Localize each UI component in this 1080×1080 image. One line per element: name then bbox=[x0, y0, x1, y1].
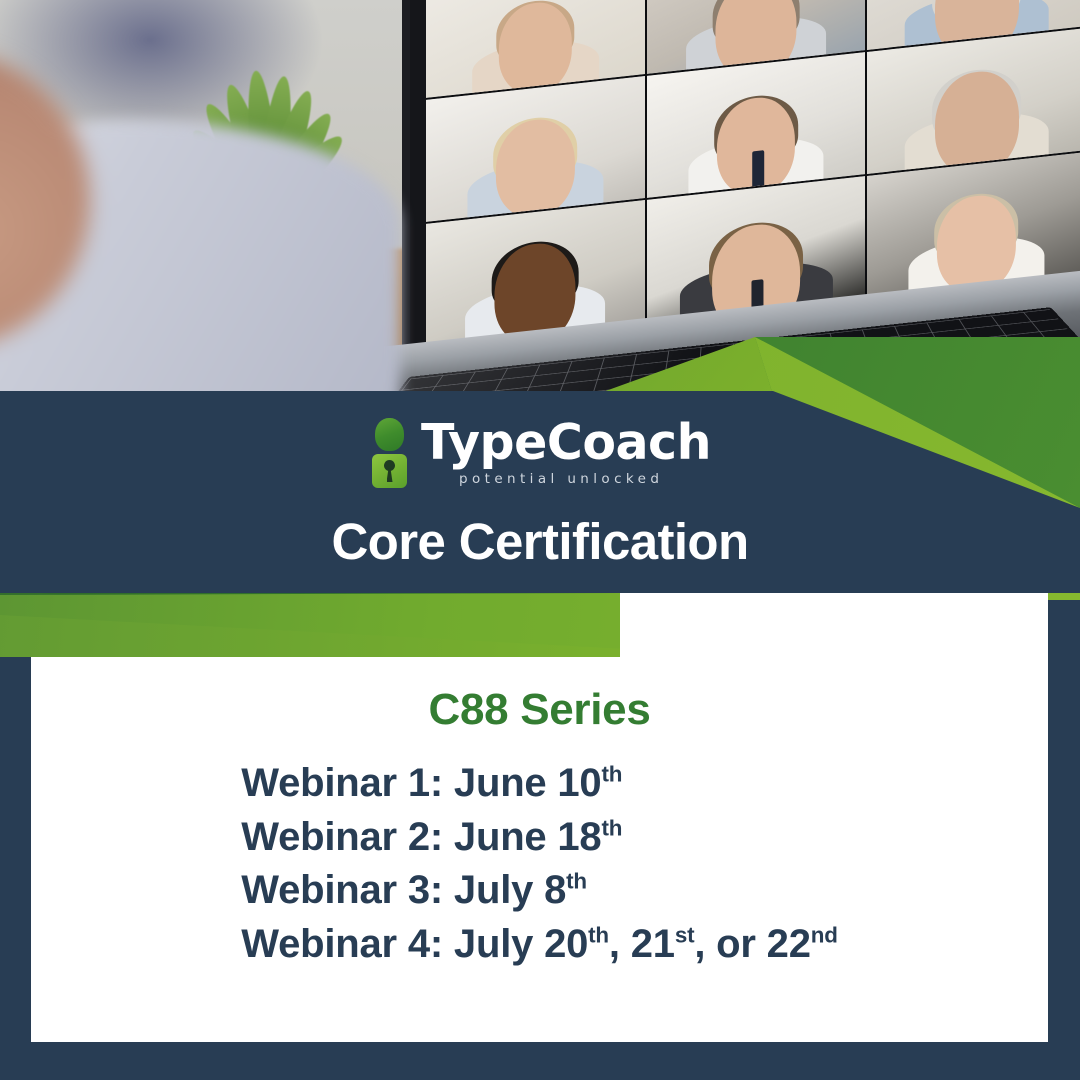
webinar-ordinal: nd bbox=[811, 922, 838, 947]
laptop bbox=[380, 0, 1080, 392]
webinar-date-sep: , 21 bbox=[609, 922, 675, 966]
webinar-ordinal: st bbox=[675, 922, 695, 947]
white-card-top-right bbox=[620, 593, 1048, 659]
webinar-label: Webinar 3: July 8 bbox=[241, 868, 566, 912]
webinar-row: Webinar 3: July 8th bbox=[241, 864, 838, 918]
brand-wordmark: TypeCoach potential unlocked bbox=[421, 418, 711, 487]
logo-head-shape bbox=[375, 418, 404, 451]
webinar-row: Webinar 1: June 10th bbox=[241, 757, 838, 811]
video-tile bbox=[647, 52, 866, 198]
poster-canvas: TypeCoach potential unlocked Core Certif… bbox=[0, 0, 1080, 1080]
webinar-ordinal: th bbox=[601, 762, 622, 787]
video-tile bbox=[867, 28, 1080, 174]
webinar-label: Webinar 1: June 10 bbox=[241, 761, 601, 805]
webinar-label: Webinar 4: July 20 bbox=[241, 922, 588, 966]
webinar-ordinal: th bbox=[588, 922, 609, 947]
webinar-row: Webinar 2: June 18th bbox=[241, 811, 838, 865]
page-title: Core Certification bbox=[0, 512, 1080, 571]
card-content: C88 Series Webinar 1: June 10th Webinar … bbox=[31, 657, 1048, 1042]
keyhole-icon bbox=[382, 460, 397, 482]
webinar-label: Webinar 2: June 18 bbox=[241, 815, 601, 859]
brand-tagline: potential unlocked bbox=[459, 471, 711, 487]
series-title: C88 Series bbox=[31, 685, 1048, 735]
brand-logo: TypeCoach potential unlocked bbox=[0, 412, 1080, 492]
person-keyhole-icon bbox=[369, 416, 409, 488]
video-tile bbox=[426, 76, 645, 222]
hero-photo bbox=[0, 0, 1080, 392]
webinar-date-sep: , or 22 bbox=[694, 922, 810, 966]
webinar-list: Webinar 1: June 10th Webinar 2: June 18t… bbox=[241, 757, 838, 971]
webinar-ordinal: th bbox=[601, 815, 622, 840]
foreground-person-shoulder bbox=[0, 120, 400, 392]
webinar-ordinal: th bbox=[566, 869, 587, 894]
webinar-row: Webinar 4: July 20th, 21st, or 22nd bbox=[241, 918, 838, 972]
brand-name: TypeCoach bbox=[421, 418, 711, 467]
